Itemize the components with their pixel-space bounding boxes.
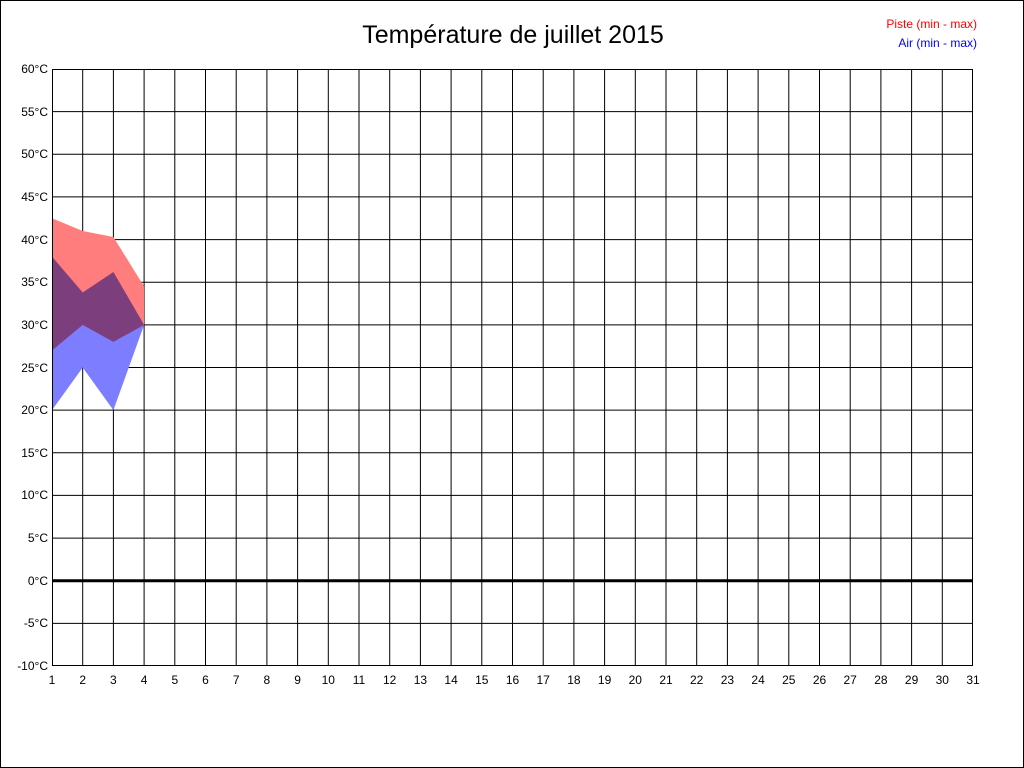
chart-legend: Piste (min - max) Air (min - max) — [886, 15, 977, 53]
x-tick-label: 30 — [936, 673, 949, 687]
x-tick-label: 22 — [690, 673, 703, 687]
x-axis-labels: 1234567891011121314151617181920212223242… — [1, 673, 1024, 693]
legend-item-air: Air (min - max) — [886, 34, 977, 53]
y-tick-label: 50°C — [1, 147, 48, 161]
x-tick-label: 7 — [233, 673, 240, 687]
x-tick-label: 21 — [659, 673, 672, 687]
y-tick-label: 30°C — [1, 318, 48, 332]
x-tick-label: 12 — [383, 673, 396, 687]
x-tick-label: 31 — [966, 673, 979, 687]
x-tick-label: 1 — [49, 673, 56, 687]
x-tick-label: 2 — [79, 673, 86, 687]
x-tick-label: 14 — [444, 673, 457, 687]
y-tick-label: 45°C — [1, 190, 48, 204]
x-tick-label: 5 — [171, 673, 178, 687]
y-tick-label: -5°C — [1, 616, 48, 630]
x-tick-label: 16 — [506, 673, 519, 687]
x-tick-label: 19 — [598, 673, 611, 687]
y-tick-label: 40°C — [1, 233, 48, 247]
y-tick-label: 25°C — [1, 361, 48, 375]
plot-area — [52, 69, 973, 666]
y-tick-label: 0°C — [1, 574, 48, 588]
page-title: Température de juillet 2015 — [1, 21, 1024, 50]
y-tick-label: 15°C — [1, 446, 48, 460]
x-tick-label: 15 — [475, 673, 488, 687]
x-tick-label: 20 — [629, 673, 642, 687]
y-tick-label: 20°C — [1, 403, 48, 417]
y-tick-label: 60°C — [1, 62, 48, 76]
y-tick-label: -10°C — [1, 659, 48, 673]
x-tick-label: 17 — [537, 673, 550, 687]
x-tick-label: 25 — [782, 673, 795, 687]
y-axis-labels: 60°C55°C50°C45°C40°C35°C30°C25°C20°C15°C… — [1, 69, 48, 666]
x-tick-label: 23 — [721, 673, 734, 687]
chart-svg — [52, 69, 973, 666]
chart-page: Température de juillet 2015 Piste (min -… — [0, 0, 1024, 768]
x-tick-label: 8 — [264, 673, 271, 687]
y-tick-label: 35°C — [1, 275, 48, 289]
x-tick-label: 13 — [414, 673, 427, 687]
x-tick-label: 4 — [141, 673, 148, 687]
x-tick-label: 11 — [353, 673, 365, 687]
y-tick-label: 10°C — [1, 488, 48, 502]
legend-item-piste: Piste (min - max) — [886, 15, 977, 34]
x-tick-label: 26 — [813, 673, 826, 687]
x-tick-label: 9 — [294, 673, 301, 687]
x-tick-label: 24 — [751, 673, 764, 687]
y-tick-label: 5°C — [1, 531, 48, 545]
x-tick-label: 6 — [202, 673, 209, 687]
x-tick-label: 29 — [905, 673, 918, 687]
x-tick-label: 28 — [874, 673, 887, 687]
x-tick-label: 18 — [567, 673, 580, 687]
x-tick-label: 3 — [110, 673, 117, 687]
x-tick-label: 10 — [322, 673, 335, 687]
y-tick-label: 55°C — [1, 105, 48, 119]
x-tick-label: 27 — [844, 673, 857, 687]
